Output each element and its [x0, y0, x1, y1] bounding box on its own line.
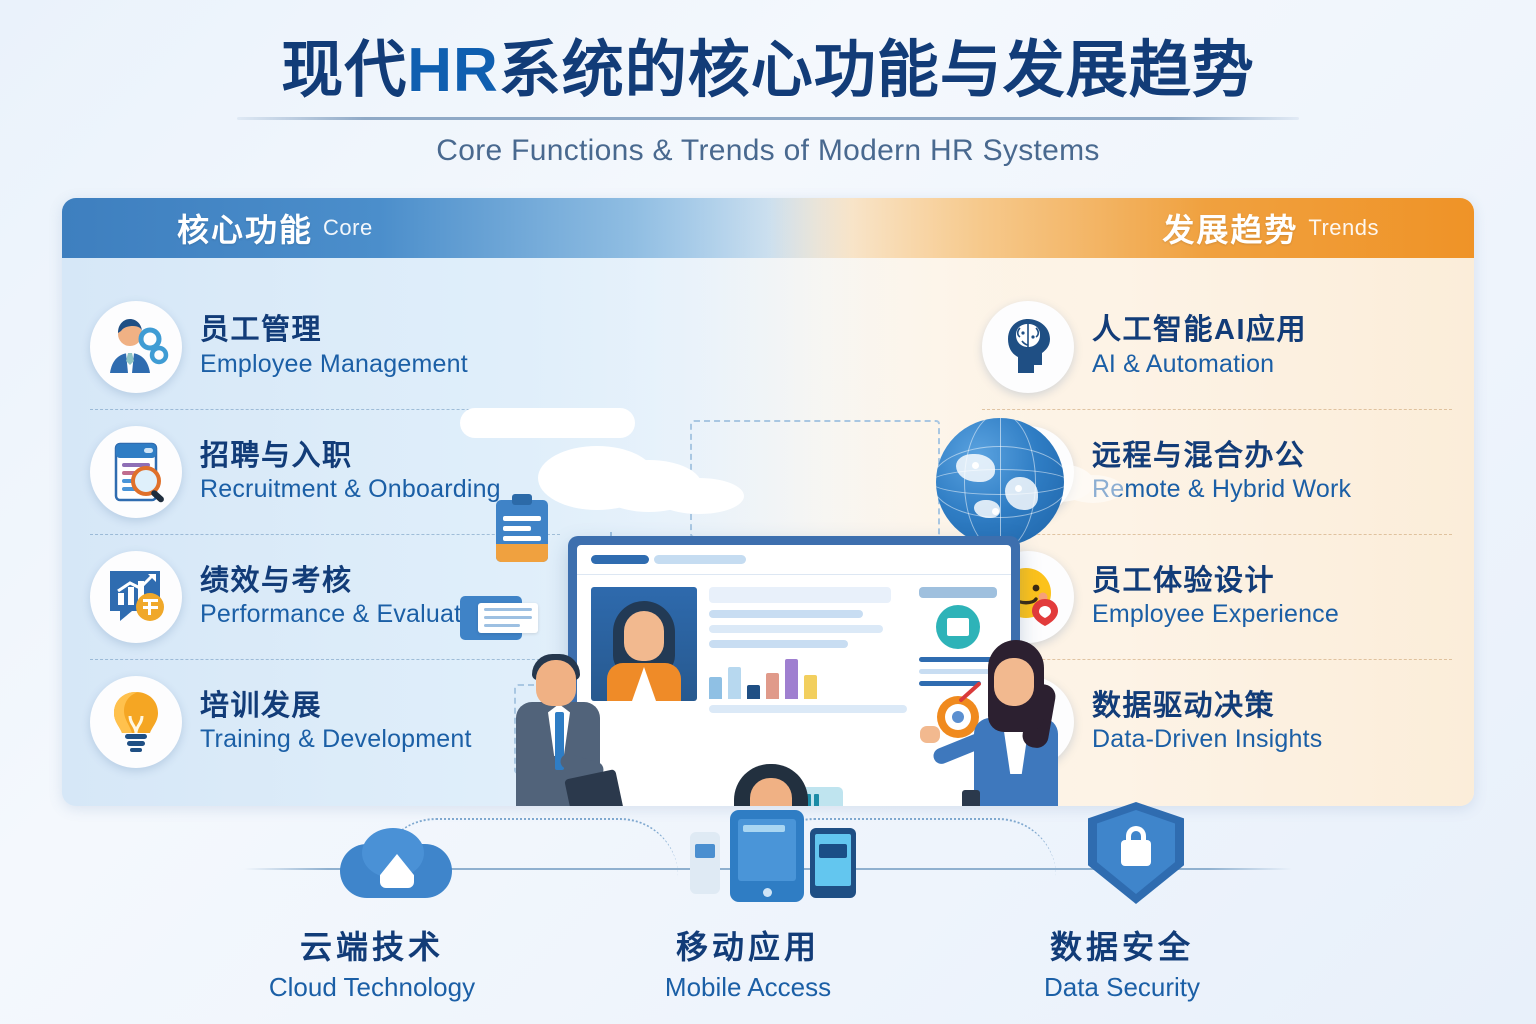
message-card-icon [460, 596, 522, 640]
core-header-cn: 核心功能 [177, 205, 313, 251]
cloud-base [460, 408, 635, 438]
page-subtitle: Core Functions & Trends of Modern HR Sys… [0, 134, 1536, 168]
foundation-row: 云端技术 Cloud Technology 移动应用 Mobile Access… [0, 812, 1536, 1024]
trends-header-cn: 发展趋势 [1162, 205, 1298, 251]
item-text: 员工体验设计 Employee Experience [1092, 565, 1339, 629]
title-area: 现代HR系统的核心功能与发展趋势 Core Functions & Trends… [0, 38, 1536, 168]
item-text: 员工管理 Employee Management [200, 314, 468, 378]
cloud-upload-icon [222, 812, 522, 904]
item-label-cn: 员工体验设计 [1092, 565, 1339, 597]
foundation-label-en: Data Security [972, 972, 1272, 1003]
devices-icon [598, 812, 898, 904]
item-text: 培训发展 Training & Development [200, 690, 472, 754]
item-label-cn: 员工管理 [200, 314, 468, 346]
item-label-en: Performance & Evaluation [200, 600, 495, 629]
list-item-employee-management[interactable]: 员工管理 Employee Management [90, 284, 560, 409]
dashboard-bar-chart [709, 655, 907, 699]
dashboard-body [577, 575, 1011, 750]
foundation-label-cn: 云端技术 [222, 922, 522, 968]
foundation-item-cloud-technology[interactable]: 云端技术 Cloud Technology [222, 812, 522, 1003]
dashed-box-top [690, 420, 940, 538]
foundation-item-data-security[interactable]: 数据安全 Data Security [972, 812, 1272, 1003]
dashboard-topbar [577, 545, 1011, 575]
item-label-cn: 人工智能AI应用 [1092, 314, 1307, 346]
item-text: 人工智能AI应用 AI & Automation [1092, 314, 1307, 378]
item-label-en: Employee Management [200, 350, 468, 379]
item-label-en: Remote & Hybrid Work [1092, 475, 1351, 504]
item-label-en: Data-Driven Insights [1092, 725, 1322, 754]
item-text: 数据驱动决策 Data-Driven Insights [1092, 690, 1322, 754]
item-text: 远程与混合办公 Remote & Hybrid Work [1092, 440, 1351, 504]
trends-header: 发展趋势 Trends [768, 198, 1474, 258]
shield-lock-icon [972, 812, 1272, 904]
item-text: 绩效与考核 Performance & Evaluation [200, 565, 495, 629]
item-label-cn: 远程与混合办公 [1092, 440, 1351, 472]
foundation-item-mobile-access[interactable]: 移动应用 Mobile Access [598, 812, 898, 1003]
person-woman-presenting [958, 640, 1078, 806]
item-label-cn: 绩效与考核 [200, 565, 495, 597]
item-label-en: AI & Automation [1092, 350, 1307, 379]
title-hr: HR [407, 36, 499, 105]
item-label-cn: 招聘与入职 [200, 440, 501, 472]
main-panel: 核心功能 Core 发展趋势 Trends 员工管理 Employe [62, 198, 1474, 806]
title-cn-part2: 系统的核心功能与发展趋势 [499, 36, 1255, 105]
foundation-label-en: Cloud Technology [222, 972, 522, 1003]
central-illustration [460, 408, 1100, 806]
title-divider [237, 117, 1299, 120]
core-header-en: Core [323, 215, 373, 241]
foundation-label-en: Mobile Access [598, 972, 898, 1003]
item-label-en: Training & Development [200, 725, 472, 754]
employee-gears-icon [90, 301, 182, 393]
person-man-with-tablet [502, 654, 620, 806]
dashboard-fields [709, 587, 907, 738]
core-functions-header: 核心功能 Core [62, 198, 853, 258]
performance-chart-icon [90, 551, 182, 643]
page-title: 现代HR系统的核心功能与发展趋势 [0, 38, 1536, 103]
item-label-cn: 培训发展 [200, 690, 472, 722]
list-item-ai-automation[interactable]: 人工智能AI应用 AI & Automation [982, 284, 1452, 409]
clipboard-icon [496, 500, 548, 562]
person-woman-with-laptop [712, 764, 852, 806]
foundation-label-cn: 移动应用 [598, 922, 898, 968]
brain-head-icon [982, 301, 1074, 393]
lightbulb-icon [90, 676, 182, 768]
item-label-en: Recruitment & Onboarding [200, 475, 501, 504]
item-text: 招聘与入职 Recruitment & Onboarding [200, 440, 501, 504]
trends-header-en: Trends [1308, 215, 1379, 241]
cloud-shape [538, 446, 656, 510]
resume-search-icon [90, 426, 182, 518]
item-label-cn: 数据驱动决策 [1092, 690, 1322, 722]
item-label-en: Employee Experience [1092, 600, 1339, 629]
foundation-label-cn: 数据安全 [972, 922, 1272, 968]
title-cn-part1: 现代 [281, 36, 407, 105]
globe-icon [936, 418, 1064, 546]
